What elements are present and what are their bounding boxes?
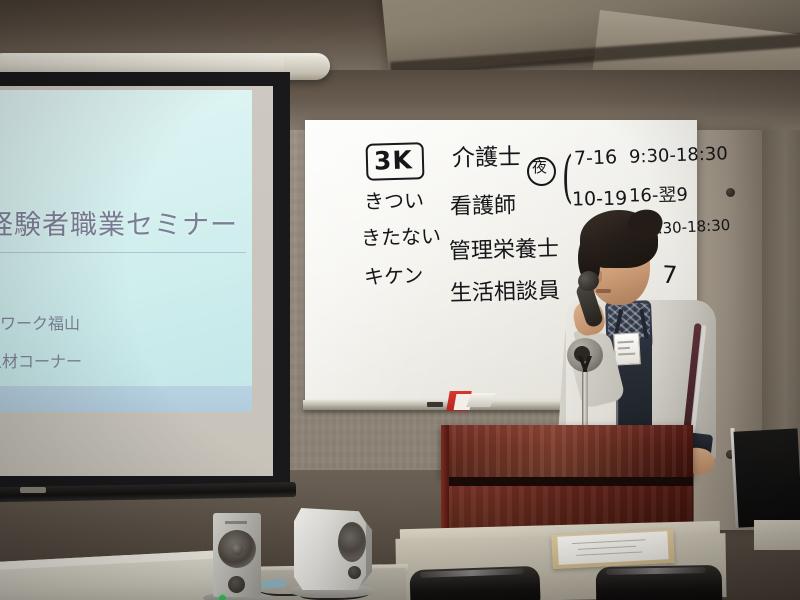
pc-speaker-right-tweeter <box>348 566 361 579</box>
presenter-mouth <box>596 289 611 293</box>
slide-subtitle-line2: 人材コーナー <box>0 348 82 372</box>
whiteboard-schedule-time-2: 16-翌9 <box>629 186 688 205</box>
slide-divider-rule <box>0 252 246 253</box>
document-text-line-3 <box>576 551 642 555</box>
whiteboard-job-1: 介護士 <box>452 146 521 170</box>
lectern-groove <box>443 477 693 486</box>
presenter-name-badge <box>613 332 641 365</box>
slide-accent-band <box>0 386 252 412</box>
badge-text-line-2 <box>618 347 630 350</box>
slide-subtitle-line1: ーワーク福山 <box>0 310 80 334</box>
screen-housing-cap <box>284 56 328 80</box>
stand-microphone-pole <box>582 372 588 428</box>
pc-speaker-left-woofer-center <box>231 543 243 555</box>
badge-text-line-3 <box>618 353 635 356</box>
column-bolt-upper <box>726 188 735 197</box>
pc-speaker-left-brand-mark <box>225 521 247 524</box>
seminar-room-photo: 経験者職業セミナー ーワーク福山 人材コーナー 3K きつい きたない キケン … <box>0 0 800 600</box>
whiteboard-3k-label: 3K <box>374 147 414 173</box>
pc-speaker-left-tweeter <box>228 576 245 593</box>
whiteboard-schedule-time-1: 9:30-18:30 <box>629 145 728 166</box>
badge-text-line-1 <box>618 341 634 344</box>
whiteboard-job-4: 生活相談員 <box>450 281 561 306</box>
whiteboard-schedule-dates-1: 7-16 <box>574 148 618 168</box>
chair-right-back <box>734 428 800 527</box>
document-text-line-1 <box>572 539 646 544</box>
white-document <box>557 531 668 565</box>
whiteboard-marker-clip <box>427 402 443 407</box>
screen-pull-tab <box>20 487 46 493</box>
whiteboard-left-item-1: きつい <box>364 190 424 211</box>
whiteboard-circled-mark: 夜 <box>532 160 547 175</box>
document-text-line-2 <box>578 546 636 550</box>
whiteboard-left-item-3: キケン <box>364 265 424 287</box>
pc-speaker-right-woofer <box>338 522 366 562</box>
whiteboard-job-2: 看護師 <box>450 195 516 218</box>
table-right <box>754 520 800 550</box>
whiteboard-left-item-2: きたない <box>361 226 441 248</box>
whiteboard-job-3: 管理栄養士 <box>449 239 560 264</box>
slide-title: 経験者職業セミナー <box>0 203 246 242</box>
lectern-top-grain <box>441 425 693 477</box>
pc-speaker-left-power-led <box>219 595 226 600</box>
